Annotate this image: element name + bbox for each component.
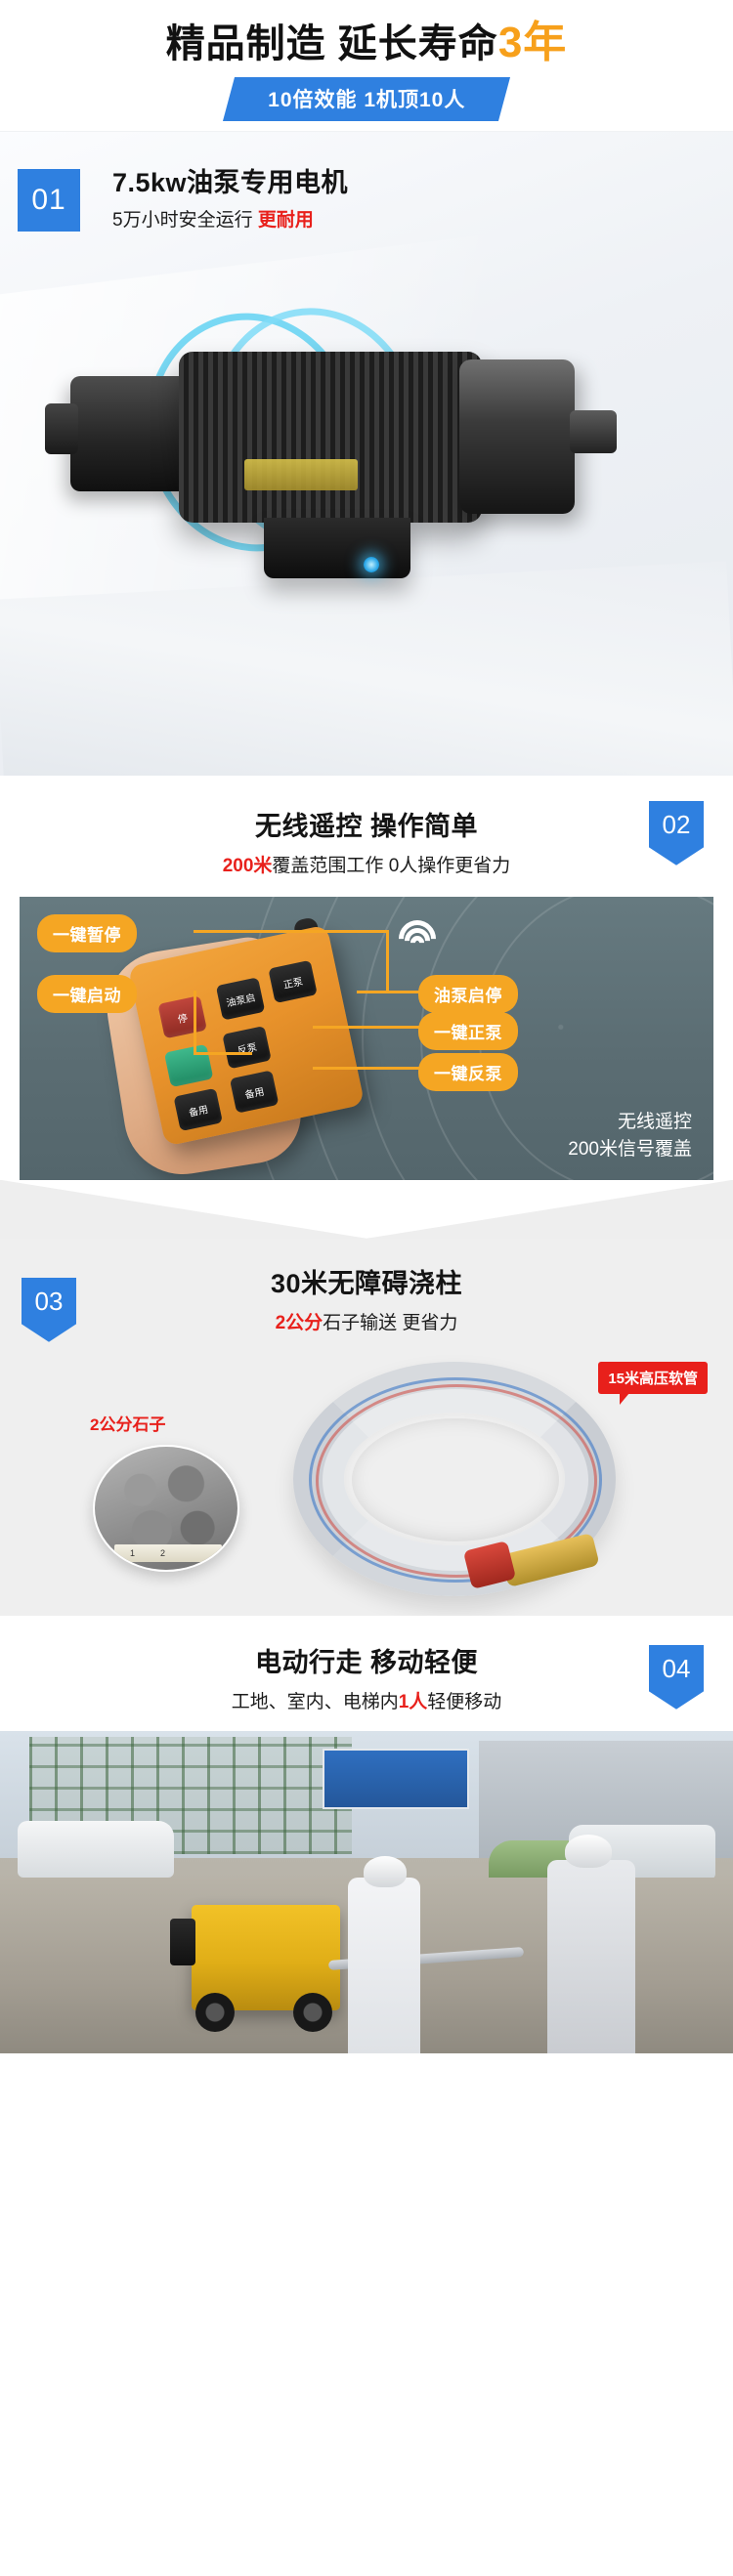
jobsite-photo — [0, 1731, 733, 2053]
section-04-title: 电动行走 移动轻便 — [0, 1641, 733, 1679]
hero-banner: 10倍效能 1机顶10人 — [223, 77, 510, 121]
callout-line — [313, 1067, 420, 1070]
hard-hat-icon — [565, 1835, 612, 1868]
callout-pump-toggle: 油泵启停 — [418, 975, 518, 1013]
motor-shaft — [570, 410, 617, 453]
hero-banner-wrap: 10倍效能 1机顶10人 — [0, 77, 733, 121]
section-01-badge: 01 — [18, 169, 80, 232]
motor-nameplate — [244, 459, 358, 490]
callout-pause: 一键暂停 — [37, 914, 137, 952]
section-01-head: 7.5kw油泵专用电机 5万小时安全运行 更耐用 — [112, 161, 348, 232]
remote-key-spare-2[interactable]: 备用 — [230, 1070, 280, 1113]
callout-line — [357, 991, 420, 993]
callout-line — [313, 1026, 420, 1029]
site-signboard — [323, 1749, 469, 1809]
section-02-head: 02 无线遥控 操作简单 200米覆盖范围工作 0人操作更省力 — [0, 805, 733, 877]
motor-photo — [0, 225, 733, 684]
page-title-main: 精品制造 延长寿命 — [166, 22, 498, 65]
remote-key-stop[interactable]: 停 — [157, 995, 207, 1038]
machine-wheel — [195, 1993, 235, 2032]
remote-caption: 无线遥控 200米信号覆盖 — [568, 1109, 692, 1164]
callout-line — [386, 930, 389, 991]
hose-photo: 15米高压软管 2公分石子 1 2 — [0, 1352, 733, 1616]
ruler-scale: 1 2 — [114, 1544, 222, 1562]
ruler-mark-1: 1 — [130, 1548, 135, 1558]
motor-base — [264, 518, 410, 578]
remote-caption-line-2: 200米信号覆盖 — [568, 1136, 692, 1164]
machine-wheel — [293, 1993, 332, 2032]
motor-end-cap — [459, 359, 575, 514]
remote-caption-line-1: 无线遥控 — [568, 1109, 692, 1137]
section-01-subtitle: 5万小时安全运行 更耐用 — [112, 205, 348, 232]
hero-header: 精品制造 延长寿命3年 10倍效能 1机顶10人 — [0, 0, 733, 131]
callout-reverse-pump: 一键反泵 — [418, 1053, 518, 1091]
callout-line — [194, 930, 389, 933]
section-03-title: 30米无障碍浇柱 — [0, 1262, 733, 1300]
section-04-head: 04 电动行走 移动轻便 工地、室内、电梯内1人轻便移动 — [0, 1641, 733, 1713]
section-04-subtitle-highlight: 1人 — [399, 1692, 428, 1712]
worker-figure — [348, 1878, 420, 2053]
section-03-subtitle-highlight: 2公分 — [276, 1313, 323, 1333]
ruler-mark-2: 2 — [160, 1548, 165, 1558]
section-02: 02 无线遥控 操作简单 200米覆盖范围工作 0人操作更省力 — [0, 776, 733, 1180]
section-03: 03 30米无障碍浇柱 2公分石子输送 更省力 15米高压软管 2公分石子 1 … — [0, 1239, 733, 1616]
section-04-subtitle-plain: 工地、室内、电梯内 — [232, 1692, 399, 1712]
callout-line — [194, 1052, 252, 1055]
hard-hat-icon — [364, 1856, 407, 1887]
remote-key-green-start[interactable] — [164, 1044, 214, 1087]
section-02-subtitle-highlight: 200米 — [223, 856, 273, 876]
section-02-title: 无线遥控 操作简单 — [0, 805, 733, 843]
hero-banner-label: 10倍效能 1机顶10人 — [268, 84, 465, 113]
section-01-title: 7.5kw油泵专用电机 — [112, 161, 348, 199]
page-title: 精品制造 延长寿命3年 — [0, 18, 733, 69]
remote-key-spare-1[interactable]: 备用 — [173, 1088, 223, 1131]
section-04: 04 电动行走 移动轻便 工地、室内、电梯内1人轻便移动 — [0, 1616, 733, 2053]
section-02-subtitle-plain: 覆盖范围工作 0人操作更省力 — [272, 856, 510, 876]
product-detail-page: 精品制造 延长寿命3年 10倍效能 1机顶10人 01 7.5kw油泵专用电机 … — [0, 0, 733, 2053]
motor-body — [179, 352, 482, 523]
remote-key-pump-start[interactable]: 油泵启 — [216, 977, 266, 1020]
section-01-subtitle-plain: 5万小时安全运行 — [112, 210, 258, 231]
remote-key-forward[interactable]: 正泵 — [268, 960, 318, 1003]
callout-forward-pump: 一键正泵 — [418, 1012, 518, 1050]
section-02-subtitle: 200米覆盖范围工作 0人操作更省力 — [0, 851, 733, 877]
callout-start: 一键启动 — [37, 975, 137, 1013]
section-03-subtitle-plain: 石子输送 更省力 — [323, 1313, 457, 1333]
page-title-accent: 3年 — [498, 19, 567, 66]
section-04-subtitle-tail: 轻便移动 — [427, 1692, 501, 1712]
section-01-subtitle-highlight: 更耐用 — [258, 210, 314, 231]
remote-key-reverse[interactable]: 反泵 — [222, 1026, 272, 1069]
remote-control-photo: 停 油泵启 正泵 反泵 备用 备用 一键暂停 一键启动 油泵启停 一键正泵 一键… — [20, 897, 713, 1180]
worker-figure — [547, 1860, 635, 2053]
hose-tag: 15米高压软管 — [598, 1362, 708, 1394]
indicator-led-icon — [364, 557, 379, 572]
gravel-label: 2公分石子 — [90, 1411, 165, 1435]
parked-van-left — [18, 1821, 174, 1878]
gravel-sample-photo: 1 2 — [93, 1445, 239, 1572]
section-03-head: 03 30米无障碍浇柱 2公分石子输送 更省力 — [0, 1262, 733, 1334]
section-01: 01 7.5kw油泵专用电机 5万小时安全运行 更耐用 — [0, 131, 733, 776]
section-03-subtitle: 2公分石子输送 更省力 — [0, 1308, 733, 1334]
callout-line — [194, 991, 196, 1055]
section-divider-chevron — [0, 1180, 733, 1239]
section-04-subtitle: 工地、室内、电梯内1人轻便移动 — [0, 1687, 733, 1713]
